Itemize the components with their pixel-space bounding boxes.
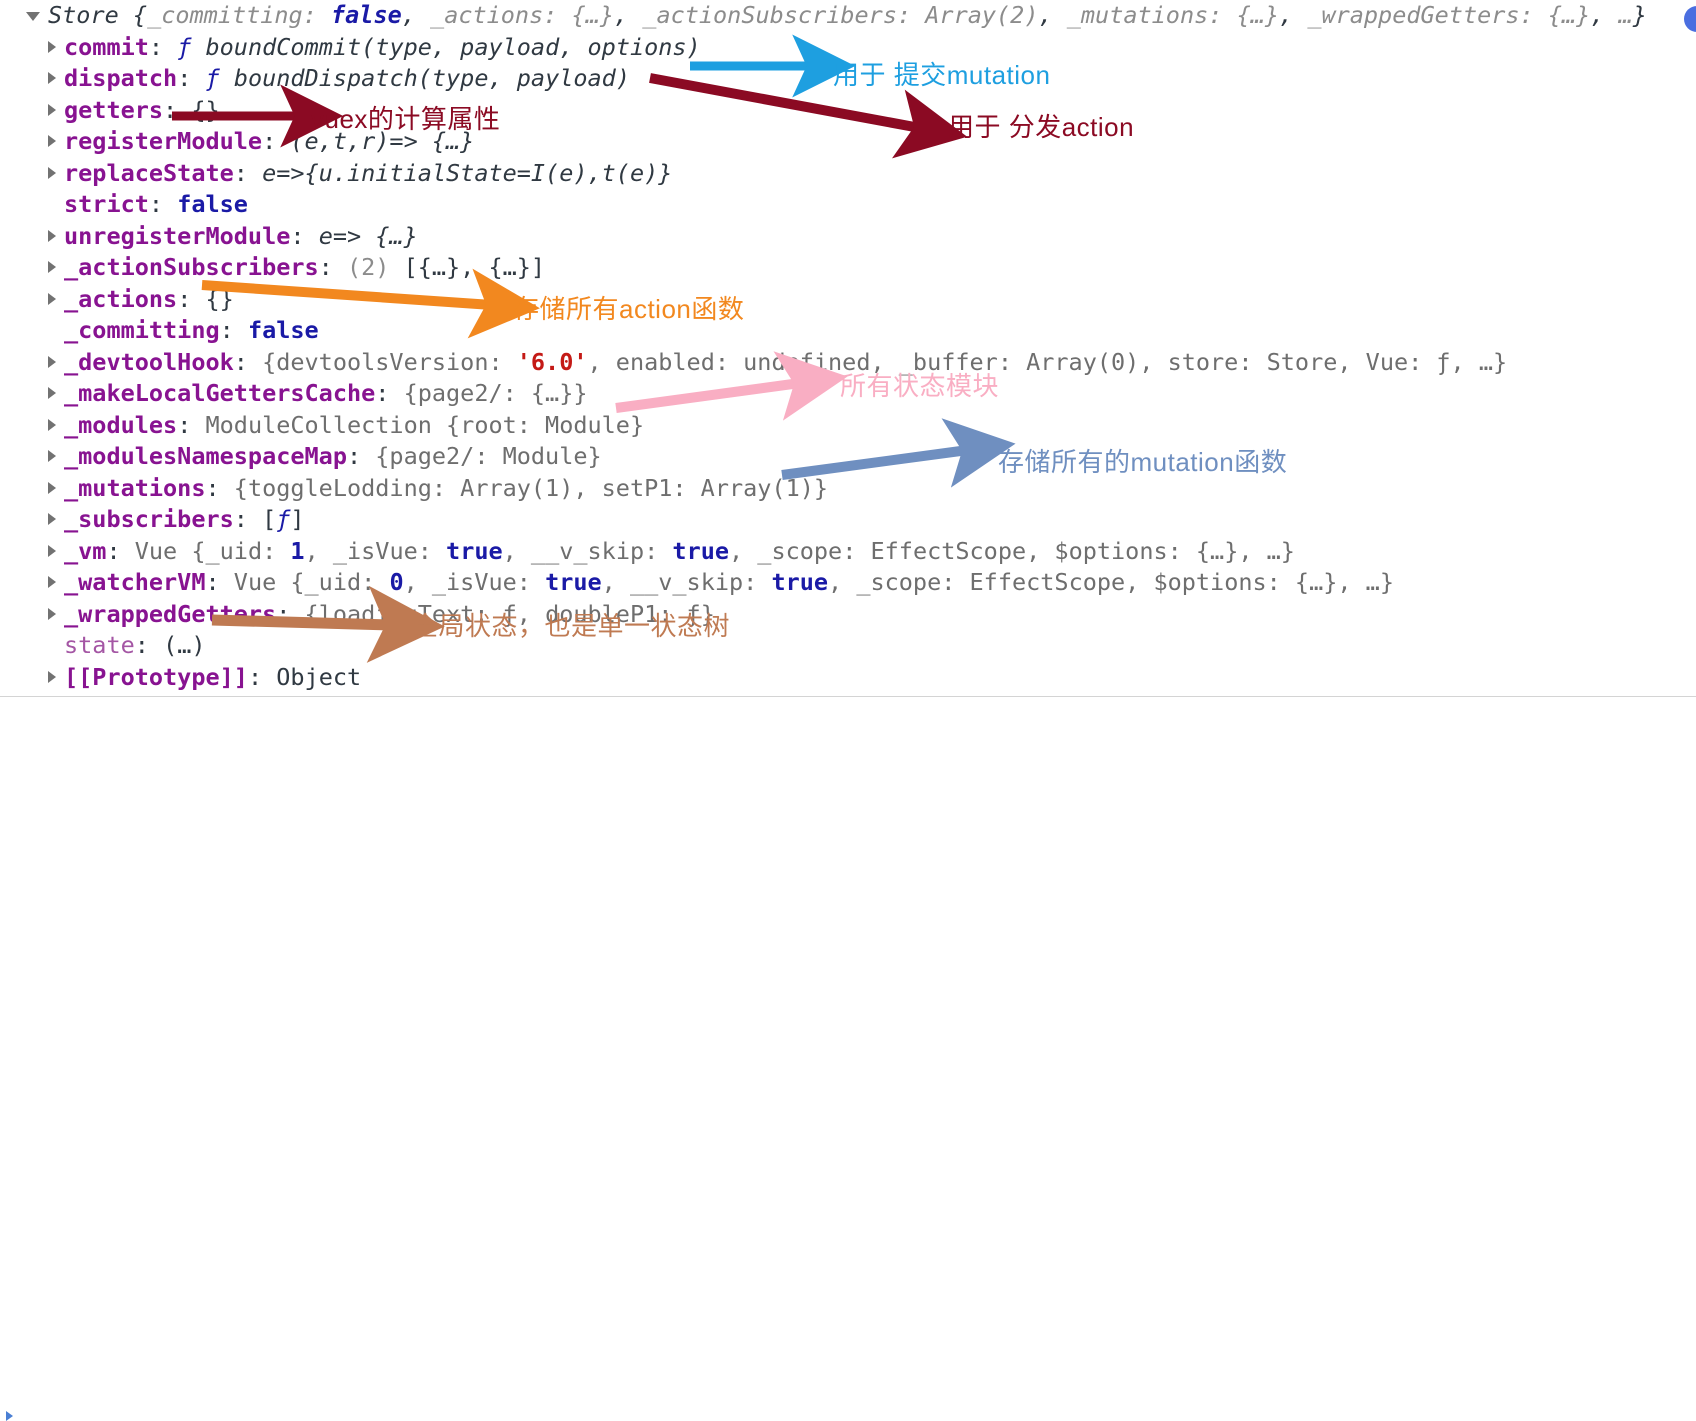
property-name: _actions	[64, 285, 177, 313]
object-property-row[interactable]: _modulesNamespaceMap: {page2/: Module}	[0, 441, 1696, 473]
object-property-row[interactable]: strict: false	[0, 189, 1696, 221]
property-name: _watcherVM	[64, 568, 205, 596]
preview-ellipsis: …	[1619, 1, 1633, 29]
property-name: _mutations	[64, 474, 205, 502]
property-colon: :	[177, 285, 191, 313]
property-value: false	[177, 190, 248, 218]
object-property-row[interactable]: _makeLocalGettersCache: {page2/: {…}}	[0, 378, 1696, 410]
chevron-right-icon[interactable]	[48, 608, 56, 620]
chevron-right-icon[interactable]	[48, 293, 56, 305]
property-colon: :	[234, 348, 248, 376]
object-property-row[interactable]: dispatch: ƒ boundDispatch(type, payload)	[0, 63, 1696, 95]
object-root-row[interactable]: Store {_committing: false, _actions: {…}…	[0, 0, 1696, 32]
object-property-row[interactable]: unregisterModule: e=> {…}	[0, 221, 1696, 253]
property-colon: :	[262, 127, 276, 155]
object-property-row[interactable]: getters: {}	[0, 95, 1696, 127]
property-colon: :	[319, 253, 333, 281]
property-name: unregisterModule	[64, 222, 290, 250]
chevron-right-icon[interactable]	[48, 387, 56, 399]
preview-val-3: Array(2)	[925, 1, 1038, 29]
preview-val-4: {…}	[1237, 1, 1279, 29]
property-name: dispatch	[64, 64, 177, 92]
chevron-right-icon[interactable]	[48, 230, 56, 242]
object-property-row[interactable]: _committing: false	[0, 315, 1696, 347]
chevron-right-icon[interactable]	[48, 356, 56, 368]
preview-key-1: _committing:	[147, 1, 317, 29]
property-colon: :	[375, 379, 389, 407]
property-value: e=>{u.initialState=I(e),t(e)}	[262, 159, 672, 187]
object-property-row[interactable]: _modules: ModuleCollection {root: Module…	[0, 410, 1696, 442]
property-value: [ƒ]	[262, 505, 304, 533]
chevron-right-icon[interactable]	[48, 419, 56, 431]
property-value: ModuleCollection {root: Module}	[206, 411, 645, 439]
prompt-caret-icon	[6, 1411, 13, 1421]
chevron-right-icon[interactable]	[48, 135, 56, 147]
property-name: replaceState	[64, 159, 234, 187]
chevron-right-icon[interactable]	[48, 72, 56, 84]
property-colon: :	[220, 316, 234, 344]
object-property-row[interactable]: state: (…)	[0, 630, 1696, 662]
property-name: strict	[64, 190, 149, 218]
property-name: _devtoolHook	[64, 348, 234, 376]
property-colon: :	[177, 64, 191, 92]
property-name: getters	[64, 96, 163, 124]
property-colon: :	[347, 442, 361, 470]
object-property-row[interactable]: _subscribers: [ƒ]	[0, 504, 1696, 536]
property-colon: :	[205, 568, 219, 596]
preview-key-5: _wrappedGetters:	[1307, 1, 1533, 29]
property-name: _subscribers	[64, 505, 234, 533]
property-colon: :	[290, 222, 304, 250]
preview-key-4: _mutations:	[1067, 1, 1223, 29]
property-name: _vm	[64, 537, 106, 565]
property-colon: :	[234, 505, 248, 533]
object-property-row[interactable]: _vm: Vue {_uid: 1, _isVue: true, __v_ski…	[0, 536, 1696, 568]
object-property-row[interactable]: _actionSubscribers: (2) [{…}, {…}]	[0, 252, 1696, 284]
object-property-row[interactable]: registerModule: (e,t,r)=> {…}	[0, 126, 1696, 158]
property-value: {loadingText: ƒ, doubleP1: ƒ}	[305, 600, 715, 628]
property-colon: :	[149, 190, 163, 218]
property-name: commit	[64, 33, 149, 61]
chevron-right-icon[interactable]	[48, 576, 56, 588]
property-value: {}	[206, 285, 234, 313]
property-name: _actionSubscribers	[64, 253, 319, 281]
object-property-row[interactable]: commit: ƒ boundCommit(type, payload, opt…	[0, 32, 1696, 64]
object-property-row[interactable]: [[Prototype]]: Object	[0, 662, 1696, 694]
object-property-row[interactable]: _devtoolHook: {devtoolsVersion: '6.0', e…	[0, 347, 1696, 379]
property-value: Vue {_uid: 0, _isVue: true, __v_skip: tr…	[234, 568, 1394, 596]
chevron-right-icon[interactable]	[48, 545, 56, 557]
chevron-down-icon[interactable]	[26, 12, 40, 21]
chevron-right-icon[interactable]	[48, 482, 56, 494]
chevron-right-icon[interactable]	[48, 167, 56, 179]
property-value: Object	[276, 663, 361, 691]
property-colon: :	[177, 411, 191, 439]
object-property-row[interactable]: _mutations: {toggleLodding: Array(1), se…	[0, 473, 1696, 505]
property-colon: :	[205, 474, 219, 502]
object-property-row[interactable]: _actions: {}	[0, 284, 1696, 316]
property-value: {}	[191, 96, 219, 124]
property-colon: :	[163, 96, 177, 124]
preview-key-3: _actionSubscribers:	[642, 1, 911, 29]
property-colon: :	[106, 537, 120, 565]
property-value: {page2/: Module}	[375, 442, 601, 470]
brace-open: {	[133, 1, 147, 29]
property-name: [[Prototype]]	[64, 663, 248, 691]
property-name: registerModule	[64, 127, 262, 155]
property-value: {toggleLodding: Array(1), setP1: Array(1…	[234, 474, 828, 502]
property-colon: :	[149, 33, 163, 61]
devtools-console-object-tree[interactable]: Store {_committing: false, _actions: {…}…	[0, 0, 1696, 696]
chevron-right-icon[interactable]	[48, 41, 56, 53]
preview-val-2: {…}	[572, 1, 614, 29]
object-constructor-name: Store	[48, 1, 119, 29]
property-value: e=> {…}	[319, 222, 418, 250]
property-value: ƒ boundDispatch(type, payload)	[206, 64, 630, 92]
property-colon: :	[234, 159, 248, 187]
property-value: (…)	[163, 631, 205, 659]
property-colon: :	[135, 631, 149, 659]
preview-key-2: _actions:	[430, 1, 557, 29]
object-property-row[interactable]: _watcherVM: Vue {_uid: 0, _isVue: true, …	[0, 567, 1696, 599]
property-name: _committing	[64, 316, 220, 344]
property-value: Vue {_uid: 1, _isVue: true, __v_skip: tr…	[135, 537, 1295, 565]
object-property-row[interactable]: replaceState: e=>{u.initialState=I(e),t(…	[0, 158, 1696, 190]
property-value: ƒ boundCommit(type, payload, options)	[177, 33, 701, 61]
object-property-row[interactable]: _wrappedGetters: {loadingText: ƒ, double…	[0, 599, 1696, 631]
preview-val-5: {…}	[1548, 1, 1590, 29]
preview-val-1: false	[331, 1, 402, 29]
property-name: _makeLocalGettersCache	[64, 379, 375, 407]
property-value: (2) [{…}, {…}]	[347, 253, 545, 281]
chevron-right-icon[interactable]	[48, 513, 56, 525]
chevron-right-icon[interactable]	[48, 450, 56, 462]
property-value: {page2/: {…}}	[404, 379, 588, 407]
property-colon: :	[276, 600, 290, 628]
property-name: _modules	[64, 411, 177, 439]
property-name: _modulesNamespaceMap	[64, 442, 347, 470]
property-name: state	[64, 631, 135, 659]
console-prompt-row[interactable]	[0, 697, 1696, 740]
brace-close: }	[1633, 1, 1647, 29]
chevron-right-icon[interactable]	[48, 671, 56, 683]
property-value: false	[248, 316, 319, 344]
property-colon: :	[248, 663, 262, 691]
property-value: (e,t,r)=> {…}	[290, 127, 474, 155]
property-name: _wrappedGetters	[64, 600, 276, 628]
property-value: {devtoolsVersion: '6.0', enabled: undefi…	[262, 348, 1507, 376]
chevron-right-icon[interactable]	[48, 104, 56, 116]
chevron-right-icon[interactable]	[48, 261, 56, 273]
